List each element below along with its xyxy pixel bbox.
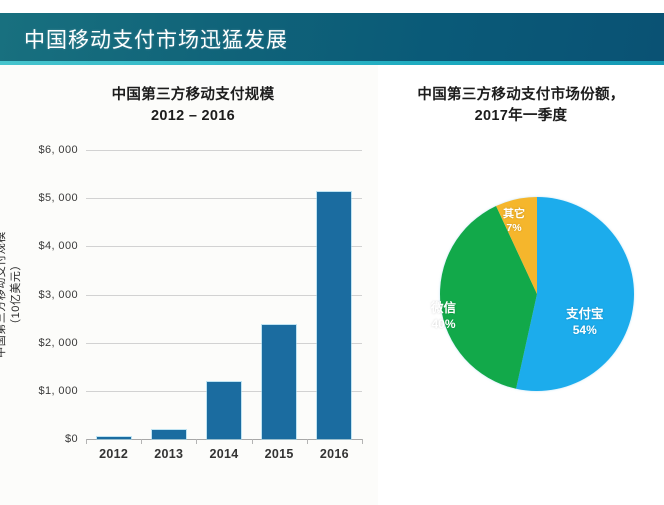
slide-canvas: 中国移动支付市场迅猛发展 中国第三方移动支付规模 2012 – 2016 中国第… bbox=[0, 0, 664, 505]
pie-slice-value: 40% bbox=[431, 317, 456, 332]
bar-chart-title: 中国第三方移动支付规模 2012 – 2016 bbox=[28, 85, 358, 127]
bar-chart-x-tick bbox=[362, 439, 363, 444]
pie-slice-name: 其它 bbox=[503, 208, 525, 220]
bar-chart-y-tick-label: $3, 000 bbox=[0, 289, 78, 301]
bar-chart-x-tick bbox=[141, 439, 142, 444]
bar-chart-bar bbox=[97, 437, 131, 439]
pie-slice-label: 其它7% bbox=[503, 208, 525, 235]
bar-chart-gridline bbox=[86, 150, 362, 151]
bar-chart-y-tick-label: $5, 000 bbox=[0, 192, 78, 204]
bar-chart-x-tick bbox=[252, 439, 253, 444]
bar-chart-x-axis-line bbox=[86, 439, 362, 440]
pie-slice-label: 微信40% bbox=[431, 301, 456, 332]
bar-chart-x-tick-label: 2016 bbox=[307, 447, 362, 461]
bar-chart-bar bbox=[262, 325, 296, 439]
slide-header-band: 中国移动支付市场迅猛发展 bbox=[0, 13, 664, 65]
bar-chart-y-tick-label: $4, 000 bbox=[0, 240, 78, 252]
bar-chart-y-tick-label: $0 bbox=[0, 433, 78, 445]
bar-chart-x-tick-label: 2013 bbox=[141, 447, 196, 461]
bar-chart-y-tick-label: $1, 000 bbox=[0, 385, 78, 397]
pie-slice-value: 7% bbox=[503, 222, 525, 235]
bar-chart-plot-area bbox=[86, 150, 362, 439]
bar-chart-bar bbox=[152, 430, 186, 439]
pie-chart-graphic bbox=[440, 197, 634, 391]
bar-chart-title-sub: 2012 – 2016 bbox=[28, 106, 358, 127]
pie-slice-label: 支付宝54% bbox=[566, 307, 604, 338]
pie-slice-value: 54% bbox=[566, 323, 604, 338]
pie-slice-name: 微信 bbox=[431, 301, 456, 315]
bar-chart-x-tick bbox=[196, 439, 197, 444]
pie-chart-title-sub: 2017年一季度 bbox=[386, 106, 656, 127]
pie-chart-title: 中国第三方移动支付市场份额， 2017年一季度 bbox=[386, 85, 656, 127]
pie-chart-svg bbox=[440, 197, 634, 391]
pie-chart-title-main: 中国第三方移动支付市场份额， bbox=[386, 85, 656, 106]
bar-chart-x-tick-label: 2015 bbox=[252, 447, 307, 461]
pie-slice-name: 支付宝 bbox=[566, 307, 604, 321]
bar-chart-bar bbox=[207, 382, 241, 439]
bar-chart-y-tick-label: $6, 000 bbox=[0, 144, 78, 156]
page-title: 中国移动支付市场迅猛发展 bbox=[24, 24, 288, 54]
bar-chart-y-tick-label: $2, 000 bbox=[0, 337, 78, 349]
bar-chart-x-tick-label: 2012 bbox=[86, 447, 141, 461]
bar-chart-x-tick bbox=[86, 439, 87, 444]
bar-chart-x-tick bbox=[307, 439, 308, 444]
bar-chart-x-tick-label: 2014 bbox=[196, 447, 251, 461]
bar-chart-bar bbox=[317, 192, 351, 439]
bar-chart-title-main: 中国第三方移动支付规模 bbox=[28, 85, 358, 106]
